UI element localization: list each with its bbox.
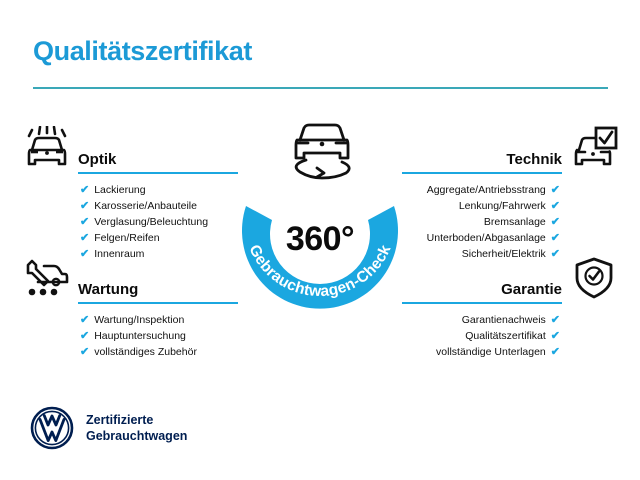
list-item-label: vollständige Unterlagen bbox=[436, 344, 546, 360]
section-garantie: Garantie Garantienachweis✔ Qualitätszert… bbox=[400, 256, 618, 302]
section-wartung-underline bbox=[78, 302, 238, 304]
list-item-label: Aggregate/Antriebsstrang bbox=[427, 182, 546, 198]
section-technik-header: Technik bbox=[400, 126, 618, 172]
list-item-label: Hauptuntersuchung bbox=[94, 328, 186, 344]
car-checkbox-icon bbox=[570, 126, 618, 170]
list-item-label: Qualitätszertifikat bbox=[465, 328, 546, 344]
section-optik: Optik ✔Lackierung ✔Karosserie/Anbauteile… bbox=[22, 126, 240, 172]
list-item-label: Karosserie/Anbauteile bbox=[94, 198, 197, 214]
list-item-label: Wartung/Inspektion bbox=[94, 312, 184, 328]
footer-line-1: Zertifizierte bbox=[86, 412, 187, 428]
qualitaetszertifikat-page: Qualitätszertifikat bbox=[0, 0, 640, 480]
section-technik-underline bbox=[402, 172, 562, 174]
check-icon: ✔ bbox=[80, 185, 89, 196]
section-technik: Technik Aggregate/Antriebsstrang✔ Lenkun… bbox=[400, 126, 618, 172]
list-item-label: Garantienachweis bbox=[462, 312, 546, 328]
list-item: Aggregate/Antriebsstrang✔ bbox=[400, 182, 618, 198]
check-icon: ✔ bbox=[551, 233, 560, 244]
list-item: Bremsanlage✔ bbox=[400, 214, 618, 230]
check-icon: ✔ bbox=[80, 331, 89, 342]
section-garantie-title: Garantie bbox=[501, 281, 562, 298]
shield-check-icon bbox=[570, 256, 618, 300]
section-optik-list: ✔Lackierung ✔Karosserie/Anbauteile ✔Verg… bbox=[22, 182, 240, 262]
list-item: ✔Karosserie/Anbauteile bbox=[22, 198, 240, 214]
section-garantie-underline bbox=[402, 302, 562, 304]
check-icon: ✔ bbox=[551, 347, 560, 358]
volkswagen-logo bbox=[30, 406, 74, 450]
list-item: ✔vollständiges Zubehör bbox=[22, 344, 240, 360]
check-icon: ✔ bbox=[80, 347, 89, 358]
list-item: ✔Wartung/Inspektion bbox=[22, 312, 240, 328]
section-technik-title: Technik bbox=[506, 151, 562, 168]
list-item: Lenkung/Fahrwerk✔ bbox=[400, 198, 618, 214]
section-technik-list: Aggregate/Antriebsstrang✔ Lenkung/Fahrwe… bbox=[400, 182, 618, 262]
list-item-label: Bremsanlage bbox=[484, 214, 546, 230]
section-garantie-header: Garantie bbox=[400, 256, 618, 302]
section-wartung-list: ✔Wartung/Inspektion ✔Hauptuntersuchung ✔… bbox=[22, 312, 240, 360]
list-item: ✔Lackierung bbox=[22, 182, 240, 198]
list-item-label: Felgen/Reifen bbox=[94, 230, 159, 246]
car-service-tool-icon bbox=[22, 256, 70, 300]
list-item: Garantienachweis✔ bbox=[400, 312, 618, 328]
check-icon: ✔ bbox=[551, 201, 560, 212]
list-item-label: vollständiges Zubehör bbox=[94, 344, 197, 360]
list-item: vollständige Unterlagen✔ bbox=[400, 344, 618, 360]
list-item: ✔Felgen/Reifen bbox=[22, 230, 240, 246]
footer-line-2: Gebrauchtwagen bbox=[86, 428, 187, 444]
title-divider bbox=[33, 87, 608, 89]
list-item-label: Lackierung bbox=[94, 182, 145, 198]
badge-center-text: 360° bbox=[222, 220, 418, 259]
footer-text: Zertifizierte Gebrauchtwagen bbox=[86, 412, 187, 444]
car-shine-icon bbox=[22, 126, 70, 170]
check-icon: ✔ bbox=[551, 315, 560, 326]
check-icon: ✔ bbox=[80, 201, 89, 212]
section-optik-header: Optik bbox=[22, 126, 240, 172]
list-item: Unterboden/Abgasanlage✔ bbox=[400, 230, 618, 246]
check-icon: ✔ bbox=[551, 331, 560, 342]
gebrauchtwagen-check-badge: Gebrauchtwagen-Check 360° bbox=[222, 118, 422, 323]
check-icon: ✔ bbox=[80, 217, 89, 228]
section-optik-title: Optik bbox=[78, 151, 116, 168]
list-item: Qualitätszertifikat✔ bbox=[400, 328, 618, 344]
list-item-label: Verglasung/Beleuchtung bbox=[94, 214, 208, 230]
list-item-label: Lenkung/Fahrwerk bbox=[459, 198, 546, 214]
list-item: ✔Hauptuntersuchung bbox=[22, 328, 240, 344]
check-icon: ✔ bbox=[551, 217, 560, 228]
section-wartung: Wartung ✔Wartung/Inspektion ✔Hauptunters… bbox=[22, 256, 240, 302]
section-optik-underline bbox=[78, 172, 238, 174]
car-rotate-360-icon bbox=[284, 118, 360, 182]
check-icon: ✔ bbox=[80, 233, 89, 244]
footer-brand: Zertifizierte Gebrauchtwagen bbox=[30, 406, 187, 450]
list-item-label: Unterboden/Abgasanlage bbox=[427, 230, 546, 246]
section-wartung-title: Wartung bbox=[78, 281, 138, 298]
check-icon: ✔ bbox=[80, 315, 89, 326]
section-wartung-header: Wartung bbox=[22, 256, 240, 302]
section-garantie-list: Garantienachweis✔ Qualitätszertifikat✔ v… bbox=[400, 312, 618, 360]
list-item: ✔Verglasung/Beleuchtung bbox=[22, 214, 240, 230]
check-icon: ✔ bbox=[551, 185, 560, 196]
page-title: Qualitätszertifikat bbox=[33, 36, 252, 67]
